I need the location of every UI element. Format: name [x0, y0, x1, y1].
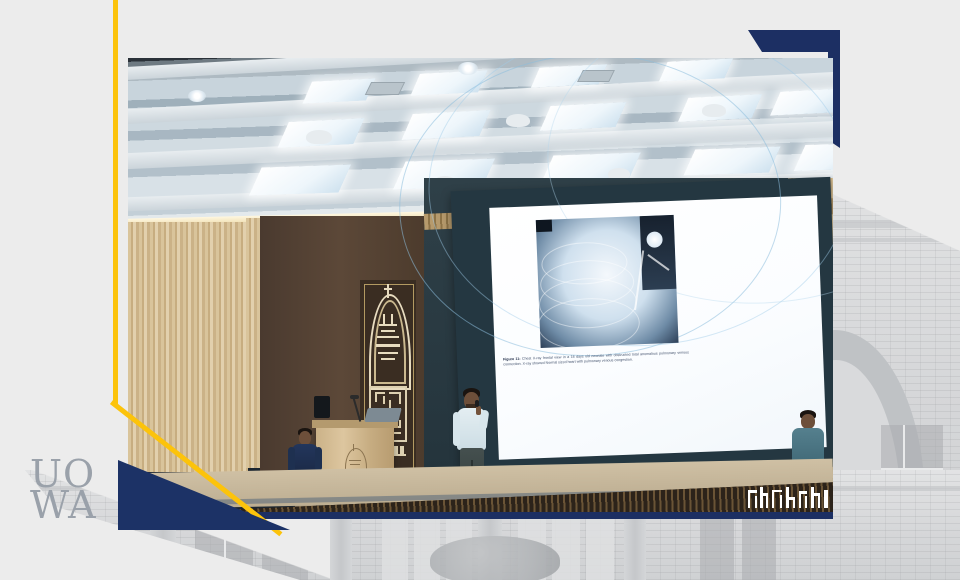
podium-laptop	[364, 408, 401, 422]
logo-line-2: WA	[30, 483, 97, 527]
ceiling-spotlight	[458, 62, 478, 75]
ceiling-air-vent	[365, 82, 405, 95]
kufic-university-watermark	[748, 487, 830, 513]
ceiling-spotlight	[188, 90, 206, 102]
ceiling-speaker	[306, 130, 332, 144]
projection-screen-frame: Figure 11: Chest X-ray frontal view in a…	[451, 177, 833, 481]
ceiling-light-panel	[302, 78, 375, 103]
handheld-microphone	[475, 400, 479, 407]
banner-canvas: Figure 11: Chest X-ray frontal view in a…	[0, 0, 960, 580]
uowa-logo: UO WA	[30, 452, 108, 522]
chest-xray-image	[536, 215, 679, 348]
wood-slat-wall-left	[128, 222, 248, 472]
projection-screen-surface: Figure 11: Chest X-ray frontal view in a…	[489, 195, 826, 459]
event-photograph: Figure 11: Chest X-ray frontal view in a…	[128, 58, 833, 518]
podium-monitor	[314, 396, 330, 418]
ceiling-light-panel	[249, 164, 351, 195]
yellow-vertical-accent	[113, 0, 118, 405]
podium-microphone-head	[350, 395, 359, 399]
